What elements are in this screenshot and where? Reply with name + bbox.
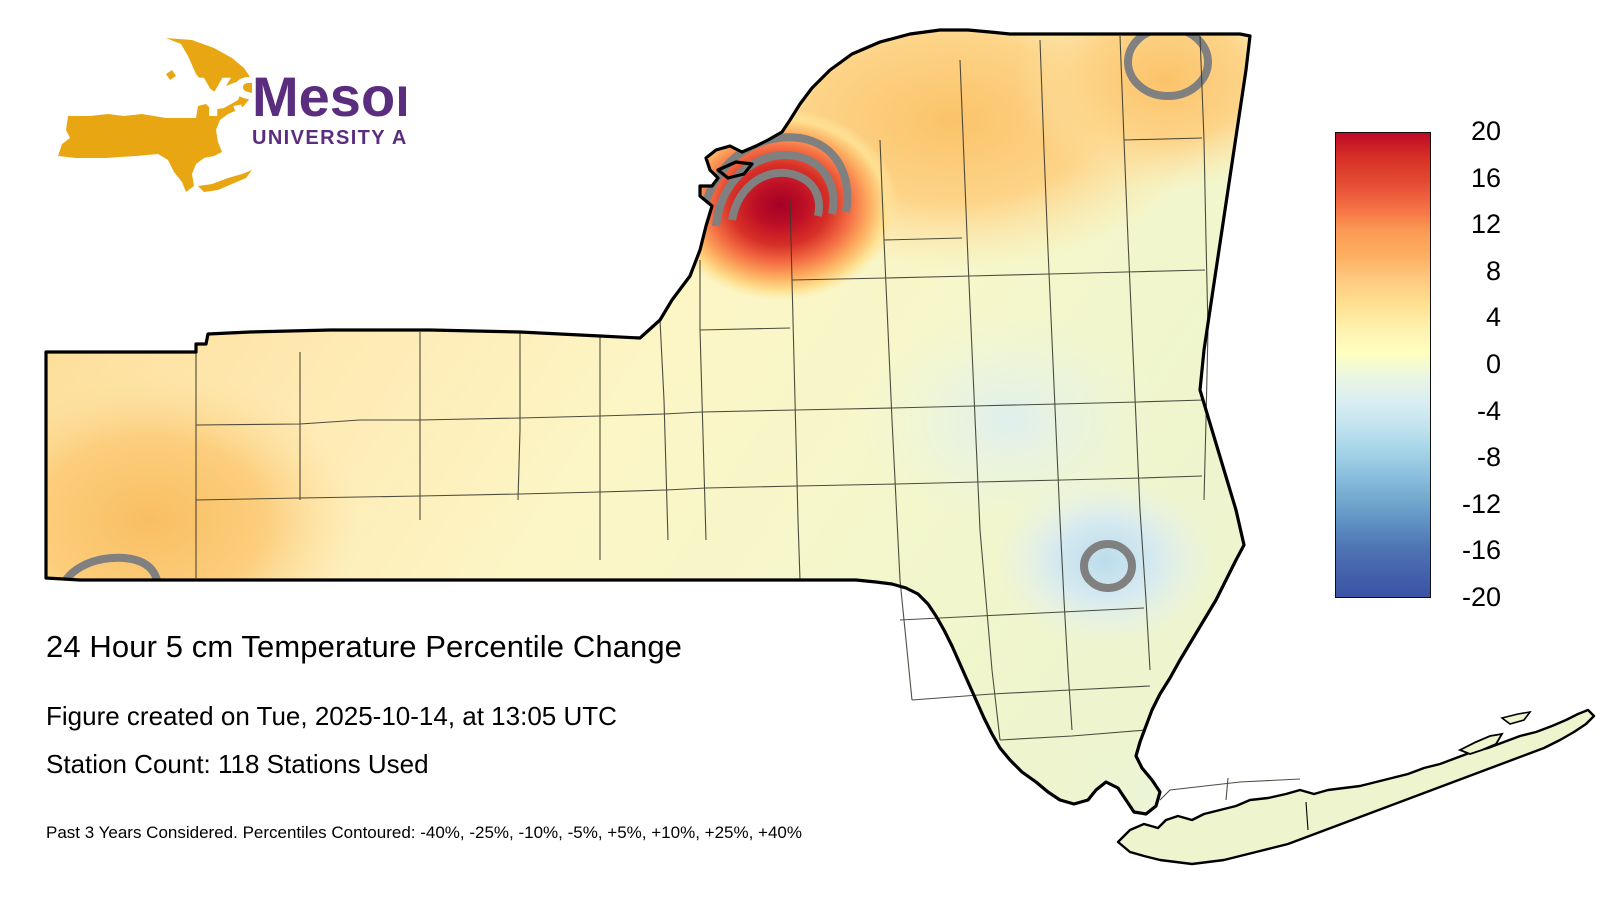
colorbar-tick-neg4: -4	[1435, 398, 1501, 425]
colorbar-tick-20: 20	[1435, 118, 1501, 145]
colorbar-tick-neg12: -12	[1435, 491, 1501, 518]
colorbar-tick-12: 12	[1435, 211, 1501, 238]
anomaly-cool-mohawk	[860, 310, 1160, 530]
colorbar-tick-neg8: -8	[1435, 444, 1501, 471]
long-island-landmass	[1118, 710, 1594, 864]
colorbar-tick-neg16: -16	[1435, 537, 1501, 564]
colorbar-tick-neg20: -20	[1435, 584, 1501, 611]
colorbar-tick-8: 8	[1435, 258, 1501, 285]
page-title: 24 Hour 5 cm Temperature Percentile Chan…	[46, 628, 682, 666]
figure-created-timestamp: Figure created on Tue, 2025-10-14, at 13…	[46, 700, 617, 732]
contour-footnote: Past 3 Years Considered. Percentiles Con…	[46, 822, 802, 844]
colorbar-gradient	[1335, 132, 1431, 598]
station-count-label: Station Count: 118 Stations Used	[46, 748, 429, 780]
colorbar-tick-4: 4	[1435, 304, 1501, 331]
figure-canvas: NYS Mesonet UNIVERSITY AT ALBANY	[0, 0, 1600, 900]
colorbar-tick-0: 0	[1435, 351, 1501, 378]
long-island-map	[1100, 690, 1600, 900]
colorbar-tick-labels: 201612840-4-8-12-16-20	[1435, 120, 1545, 610]
colorbar-legend: 201612840-4-8-12-16-20	[1335, 120, 1565, 610]
colorbar-tick-16: 16	[1435, 165, 1501, 192]
